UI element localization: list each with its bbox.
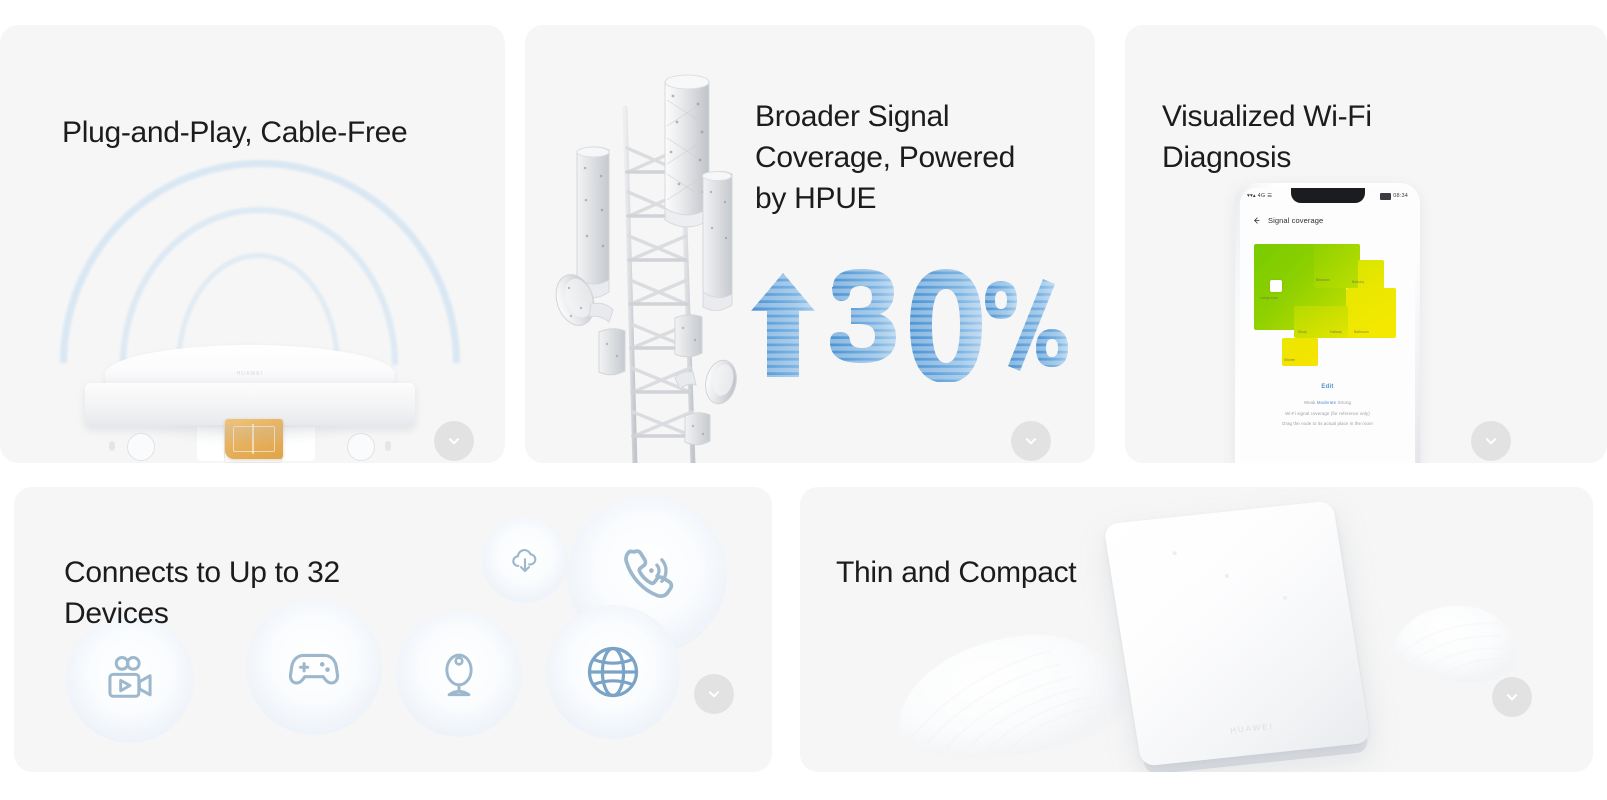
expand-chevron-button-plug-and-play[interactable] bbox=[434, 421, 474, 461]
legend-caption: Weak Moderate Strong bbox=[1240, 400, 1415, 405]
heat-label-4: Kitchen bbox=[1284, 358, 1295, 362]
card-thin-and-compact[interactable]: Thin and Compact HUAWEI bbox=[800, 487, 1593, 772]
tower-panel-antenna-left bbox=[577, 147, 609, 298]
status-bar-left: ▾▾▴ 4G ☰ bbox=[1247, 193, 1272, 199]
heat-label-0: Living room bbox=[1260, 296, 1278, 300]
router-led-left bbox=[109, 441, 115, 451]
heat-label-5: Bathroom bbox=[1354, 330, 1369, 334]
edit-link[interactable]: Edit bbox=[1240, 384, 1415, 390]
device-bubble-video-camera[interactable] bbox=[66, 615, 194, 743]
drag-node-hint: Drag the node to its actual place in the… bbox=[1240, 421, 1415, 426]
legend-moderate: Moderate bbox=[1317, 400, 1336, 405]
card-title-plug-and-play: Plug-and-Play, Cable-Free bbox=[62, 112, 407, 153]
legend-weak: Weak bbox=[1304, 400, 1316, 405]
cell-tower-illustration bbox=[553, 60, 748, 463]
tower-panel-antenna-right bbox=[703, 171, 733, 310]
globe-icon bbox=[582, 641, 644, 703]
chevron-down-icon bbox=[1503, 688, 1521, 706]
coverage-disclaimer: Wi-Fi signal coverage (for reference onl… bbox=[1240, 411, 1415, 416]
router-brand-label: HUAWEI bbox=[1230, 722, 1275, 735]
chevron-down-icon bbox=[705, 685, 723, 703]
router-slab-dot-2 bbox=[1225, 574, 1230, 578]
card-connects-32-devices[interactable]: Connects to Up to 32 Devices bbox=[14, 487, 772, 772]
feather-right bbox=[1390, 595, 1523, 691]
card-title-wifi-diagnosis: Visualized Wi-Fi Diagnosis bbox=[1162, 96, 1492, 178]
card-wifi-diagnosis[interactable]: Visualized Wi-Fi Diagnosis ▾▾▴ 4G ☰ 08:3… bbox=[1125, 25, 1607, 463]
router-slab-3d: HUAWEI bbox=[1103, 500, 1370, 766]
phone-screen: ▾▾▴ 4G ☰ 08:34 Signal coverage bbox=[1240, 188, 1415, 463]
app-bar-title: Signal coverage bbox=[1268, 216, 1323, 225]
signal-boost-stat bbox=[747, 267, 1077, 382]
expand-chevron-button-thin-and-compact[interactable] bbox=[1492, 677, 1532, 717]
router-brand-mark: HUAWEI bbox=[236, 371, 263, 377]
legend-strong: Strong bbox=[1338, 400, 1352, 405]
signal-coverage-heatmap[interactable]: Living room Bedroom Balcony Study Hallwa… bbox=[1254, 244, 1410, 364]
expand-chevron-button-wifi-diagnosis[interactable] bbox=[1471, 421, 1511, 461]
card-title-thin-and-compact: Thin and Compact bbox=[836, 552, 1076, 593]
status-bar-time: 08:34 bbox=[1393, 193, 1408, 199]
chevron-down-icon bbox=[1022, 432, 1040, 450]
heat-label-2: Study bbox=[1298, 330, 1307, 334]
card-title-connects-32-devices: Connects to Up to 32 Devices bbox=[64, 552, 424, 634]
arrow-left-icon[interactable] bbox=[1252, 216, 1261, 225]
phone-mockup: ▾▾▴ 4G ☰ 08:34 Signal coverage bbox=[1235, 183, 1420, 463]
expand-chevron-button-broader-signal[interactable] bbox=[1011, 421, 1051, 461]
router-slab-dot-3 bbox=[1283, 596, 1288, 600]
device-bubble-cloud-download[interactable] bbox=[482, 517, 568, 603]
tower-dish-right bbox=[675, 357, 740, 406]
card-broader-signal[interactable]: Broader Signal Coverage, Powered by HPUE bbox=[525, 25, 1095, 463]
device-bubble-globe[interactable] bbox=[546, 605, 680, 739]
feather-right-barbs bbox=[1390, 595, 1523, 691]
tower-antenna-cylinder bbox=[665, 75, 709, 227]
expand-chevron-button-connects-32-devices[interactable] bbox=[694, 674, 734, 714]
chevron-down-icon bbox=[445, 432, 463, 450]
phone-status-bar: ▾▾▴ 4G ☰ 08:34 bbox=[1240, 190, 1415, 202]
video-camera-icon bbox=[102, 651, 158, 707]
feather-left bbox=[890, 625, 1131, 766]
heat-label-6: Hallway bbox=[1330, 330, 1342, 334]
router-node-marker[interactable] bbox=[1270, 280, 1282, 292]
stat-striped-glyphs bbox=[751, 269, 1068, 382]
status-bar-right: 08:34 bbox=[1380, 193, 1408, 200]
chevron-down-icon bbox=[1482, 432, 1500, 450]
phone-call-icon bbox=[614, 542, 680, 608]
heat-label-3: Balcony bbox=[1352, 280, 1364, 284]
router-slab-dot-1 bbox=[1172, 551, 1177, 555]
phone-app-bar: Signal coverage bbox=[1240, 210, 1415, 230]
router-slab-face: HUAWEI bbox=[1103, 500, 1370, 766]
router-top-shell: HUAWEI bbox=[105, 345, 395, 387]
router-device-illustration: HUAWEI bbox=[85, 345, 415, 455]
router-drop-shadow bbox=[145, 425, 355, 447]
cloud-download-icon bbox=[508, 543, 542, 577]
game-controller-icon bbox=[285, 638, 343, 696]
feature-card-grid: Plug-and-Play, Cable-Free HUAWEI bbox=[0, 0, 1607, 800]
router-led-right bbox=[385, 441, 391, 451]
feather-left-barbs bbox=[890, 625, 1131, 766]
battery-icon bbox=[1380, 193, 1391, 200]
webcam-icon bbox=[432, 647, 486, 701]
card-plug-and-play[interactable]: Plug-and-Play, Cable-Free HUAWEI bbox=[0, 25, 505, 463]
heat-label-1: Bedroom bbox=[1316, 278, 1330, 282]
card-title-broader-signal: Broader Signal Coverage, Powered by HPUE bbox=[755, 96, 1055, 219]
